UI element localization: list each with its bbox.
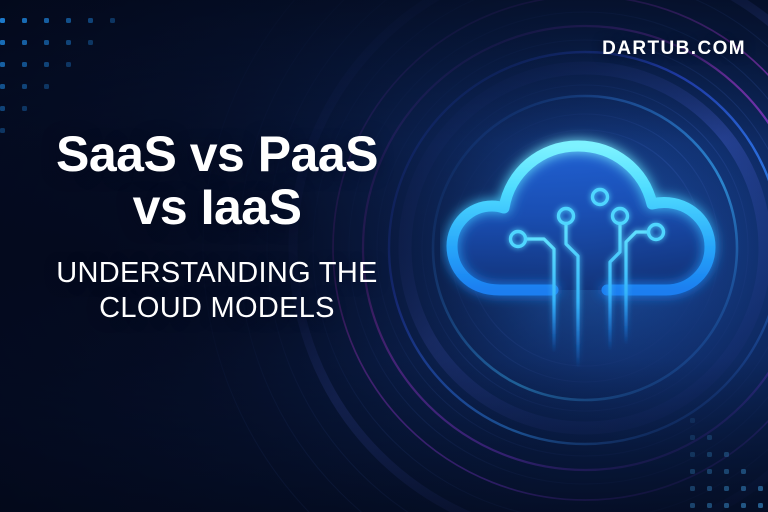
poster-canvas: SaaS vs PaaS vs IaaS UNDERSTANDING THE C… — [0, 0, 768, 512]
brand-logo[interactable]: DARTUB.COM — [602, 38, 746, 60]
cloud-fill — [452, 146, 710, 290]
page-subtitle: UNDERSTANDING THE CLOUD MODELS — [0, 256, 434, 327]
cloud-circuit-icon — [440, 120, 730, 370]
hero-text: SaaS vs PaaS vs IaaS UNDERSTANDING THE C… — [0, 128, 434, 327]
page-title: SaaS vs PaaS vs IaaS — [0, 128, 434, 234]
